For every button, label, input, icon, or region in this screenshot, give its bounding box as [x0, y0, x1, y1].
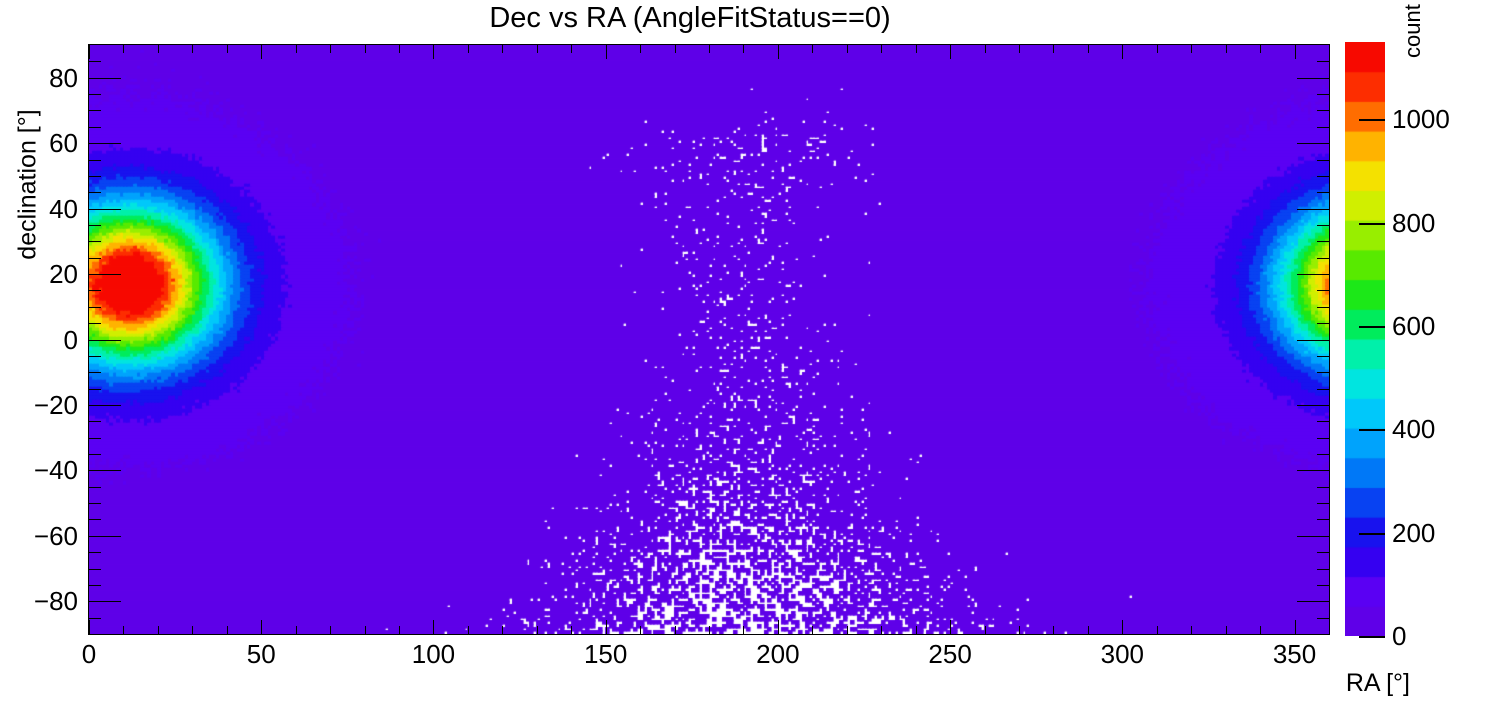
x-axis-tick-label: 200: [756, 641, 799, 667]
x-axis-tick-top: [640, 45, 641, 53]
y-axis-tick-right: [1317, 290, 1329, 291]
x-axis-tick: [365, 626, 366, 634]
x-axis-tick-top: [227, 45, 228, 53]
y-axis-tick-right: [1297, 209, 1329, 210]
y-axis-tick-right: [1317, 61, 1329, 62]
x-axis-tick: [916, 626, 917, 634]
y-axis-tick: [89, 618, 101, 619]
x-axis-tick: [709, 626, 710, 634]
y-axis-tick: [89, 601, 121, 602]
x-axis-tick-top: [296, 45, 297, 53]
x-axis-tick-top: [468, 45, 469, 53]
x-axis-tick: [1088, 626, 1089, 634]
y-axis-tick-right: [1297, 274, 1329, 275]
x-axis-tick-top: [1226, 45, 1227, 53]
y-axis-tick: [89, 94, 101, 95]
page-title: Dec vs RA (AngleFitStatus==0): [0, 2, 1380, 35]
x-axis-tick-top: [1053, 45, 1054, 53]
y-axis-tick-label: −40: [18, 457, 78, 483]
x-axis-tick-label: 100: [412, 641, 455, 667]
x-axis-tick-top: [709, 45, 710, 53]
y-axis-tick: [89, 209, 121, 210]
x-axis-tick: [399, 626, 400, 634]
x-axis-tick-top: [778, 45, 779, 59]
y-axis-tick-right: [1297, 470, 1329, 471]
color-scale-tick-label: 200: [1392, 520, 1435, 546]
y-axis-tick-label: −20: [18, 392, 78, 418]
y-axis-tick: [89, 176, 101, 177]
y-axis-tick-label: 40: [18, 196, 78, 222]
y-axis-tick: [89, 536, 121, 537]
x-axis-title: RA [°]: [1346, 669, 1410, 698]
x-axis-tick-top: [433, 45, 434, 59]
x-axis-tick: [1019, 626, 1020, 634]
y-axis-tick-right: [1317, 323, 1329, 324]
y-axis-tick: [89, 552, 101, 553]
y-axis-tick-label: 80: [18, 65, 78, 91]
x-axis-tick-top: [399, 45, 400, 53]
y-axis-tick-right: [1317, 110, 1329, 111]
color-scale-tick: [1359, 636, 1385, 638]
y-axis-tick: [89, 78, 121, 79]
color-scale-tick: [1359, 326, 1385, 328]
x-axis-tick-top: [1019, 45, 1020, 53]
x-axis-tick-top: [89, 45, 90, 59]
x-axis-tick-top: [1088, 45, 1089, 53]
y-axis-tick-right: [1317, 454, 1329, 455]
z-axis-title: count: [1400, 0, 1426, 58]
x-axis-tick: [1122, 620, 1123, 634]
y-axis-tick: [89, 143, 121, 144]
y-axis-tick-right: [1317, 356, 1329, 357]
x-axis-tick: [192, 626, 193, 634]
x-axis-tick: [468, 626, 469, 634]
x-axis-tick: [158, 626, 159, 634]
x-axis-tick-top: [916, 45, 917, 53]
y-axis-tick: [89, 569, 101, 570]
y-axis-tick-right: [1317, 519, 1329, 520]
x-axis-tick-label: 250: [928, 641, 971, 667]
color-scale-tick-label: 1000: [1392, 106, 1450, 132]
x-axis-tick-top: [881, 45, 882, 53]
y-axis-tick: [89, 241, 101, 242]
x-axis-tick-label: 150: [584, 641, 627, 667]
x-axis-tick-top: [502, 45, 503, 53]
y-axis-tick-right: [1317, 160, 1329, 161]
x-axis-tick: [1295, 620, 1296, 634]
y-axis-tick: [89, 421, 101, 422]
y-axis-tick: [89, 389, 101, 390]
y-axis-tick-right: [1317, 127, 1329, 128]
color-scale-tick-label: 600: [1392, 313, 1435, 339]
y-axis-tick: [89, 258, 101, 259]
y-axis-tick-right: [1317, 372, 1329, 373]
x-axis-tick-top: [192, 45, 193, 53]
y-axis-tick-right: [1297, 405, 1329, 406]
color-scale-tick-label: 0: [1392, 623, 1406, 649]
y-axis-tick: [89, 274, 121, 275]
y-axis-tick: [89, 307, 101, 308]
y-axis-tick-right: [1297, 143, 1329, 144]
x-axis-tick-top: [1122, 45, 1123, 59]
x-axis-tick: [743, 626, 744, 634]
x-axis-tick-top: [1260, 45, 1261, 53]
x-axis-tick-label: 350: [1273, 641, 1316, 667]
y-axis-tick: [89, 290, 101, 291]
x-axis-tick: [847, 626, 848, 634]
color-scale-tick-label: 800: [1392, 210, 1435, 236]
color-scale-bar: [1345, 42, 1385, 636]
y-axis-tick-right: [1297, 536, 1329, 537]
x-axis-tick-top: [985, 45, 986, 53]
x-axis-tick-top: [812, 45, 813, 53]
y-axis-tick: [89, 372, 101, 373]
x-axis-tick: [675, 626, 676, 634]
x-axis-tick: [1053, 626, 1054, 634]
y-axis-tick-label: 20: [18, 261, 78, 287]
color-scale-gradient: [1345, 42, 1385, 636]
y-axis-tick: [89, 225, 101, 226]
y-axis-tick: [89, 405, 121, 406]
y-axis-tick-right: [1317, 389, 1329, 390]
x-axis-tick: [571, 626, 572, 634]
x-axis-tick-top: [365, 45, 366, 53]
y-axis-tick-right: [1297, 601, 1329, 602]
y-axis-tick-right: [1317, 421, 1329, 422]
y-axis-tick-right: [1317, 94, 1329, 95]
y-axis-tick: [89, 192, 101, 193]
plot-frame: [88, 44, 1330, 635]
y-axis-tick: [89, 519, 101, 520]
y-axis-tick-right: [1317, 225, 1329, 226]
x-axis-tick: [1157, 626, 1158, 634]
y-axis-tick-right: [1297, 78, 1329, 79]
x-axis-tick: [1191, 626, 1192, 634]
x-axis-tick-top: [158, 45, 159, 53]
root-plot-canvas: Dec vs RA (AngleFitStatus==0) RA [°] dec…: [0, 0, 1496, 722]
color-scale-tick: [1359, 223, 1385, 225]
y-axis-tick: [89, 340, 121, 341]
y-axis-tick-label: 60: [18, 130, 78, 156]
x-axis-tick: [950, 620, 951, 634]
y-axis-tick-right: [1317, 192, 1329, 193]
x-axis-tick: [1226, 626, 1227, 634]
x-axis-tick: [640, 626, 641, 634]
x-axis-tick-label: 0: [82, 641, 96, 667]
x-axis-tick-top: [606, 45, 607, 59]
y-axis-tick-right: [1317, 258, 1329, 259]
y-axis-tick: [89, 438, 101, 439]
y-axis-tick-right: [1317, 569, 1329, 570]
y-axis-tick: [89, 160, 101, 161]
y-axis-tick: [89, 127, 101, 128]
x-axis-tick-top: [847, 45, 848, 53]
y-axis-tick-label: 0: [18, 327, 78, 353]
y-axis-tick-right: [1317, 618, 1329, 619]
x-axis-tick: [502, 626, 503, 634]
x-axis-tick-top: [950, 45, 951, 59]
x-axis-tick: [123, 626, 124, 634]
x-axis-tick: [985, 626, 986, 634]
y-axis-tick: [89, 356, 101, 357]
x-axis-tick: [537, 626, 538, 634]
x-axis-tick-top: [537, 45, 538, 53]
y-axis-tick-right: [1317, 487, 1329, 488]
y-axis-tick: [89, 470, 121, 471]
y-axis-tick-right: [1297, 340, 1329, 341]
y-axis-title: declination [°]: [14, 95, 43, 275]
y-axis-tick-right: [1317, 307, 1329, 308]
x-axis-tick: [881, 626, 882, 634]
color-scale-tick: [1359, 429, 1385, 431]
x-axis-tick-label: 300: [1101, 641, 1144, 667]
y-axis-tick: [89, 585, 101, 586]
color-scale-tick-label: 400: [1392, 416, 1435, 442]
y-axis-tick-right: [1317, 585, 1329, 586]
x-axis-tick: [778, 620, 779, 634]
x-axis-tick: [296, 626, 297, 634]
y-axis-tick-right: [1317, 552, 1329, 553]
x-axis-tick-top: [1295, 45, 1296, 59]
y-axis-tick-right: [1317, 241, 1329, 242]
y-axis-tick-label: −80: [18, 588, 78, 614]
x-axis-tick-top: [743, 45, 744, 53]
x-axis-tick: [1260, 626, 1261, 634]
x-axis-tick: [812, 626, 813, 634]
y-axis-tick: [89, 323, 101, 324]
x-axis-tick: [227, 626, 228, 634]
x-axis-tick-top: [1329, 45, 1330, 53]
x-axis-tick: [330, 626, 331, 634]
x-axis-tick: [1329, 626, 1330, 634]
histogram-heatmap: [89, 45, 1329, 634]
y-axis-tick-right: [1317, 176, 1329, 177]
y-axis-tick: [89, 61, 101, 62]
x-axis-tick-top: [1191, 45, 1192, 53]
y-axis-tick: [89, 454, 101, 455]
y-axis-tick: [89, 503, 101, 504]
y-axis-tick: [89, 110, 101, 111]
x-axis-tick-top: [123, 45, 124, 53]
color-scale-tick: [1359, 119, 1385, 121]
x-axis-tick-top: [330, 45, 331, 53]
y-axis-tick-label: −60: [18, 523, 78, 549]
x-axis-tick: [261, 620, 262, 634]
y-axis-tick-right: [1317, 438, 1329, 439]
x-axis-tick: [89, 620, 90, 634]
x-axis-tick-top: [675, 45, 676, 53]
x-axis-tick: [606, 620, 607, 634]
x-axis-tick-top: [261, 45, 262, 59]
x-axis-tick: [433, 620, 434, 634]
y-axis-tick: [89, 487, 101, 488]
y-axis-tick-right: [1317, 503, 1329, 504]
color-scale-tick: [1359, 533, 1385, 535]
x-axis-tick-top: [1157, 45, 1158, 53]
x-axis-tick-top: [571, 45, 572, 53]
x-axis-tick-label: 50: [247, 641, 276, 667]
